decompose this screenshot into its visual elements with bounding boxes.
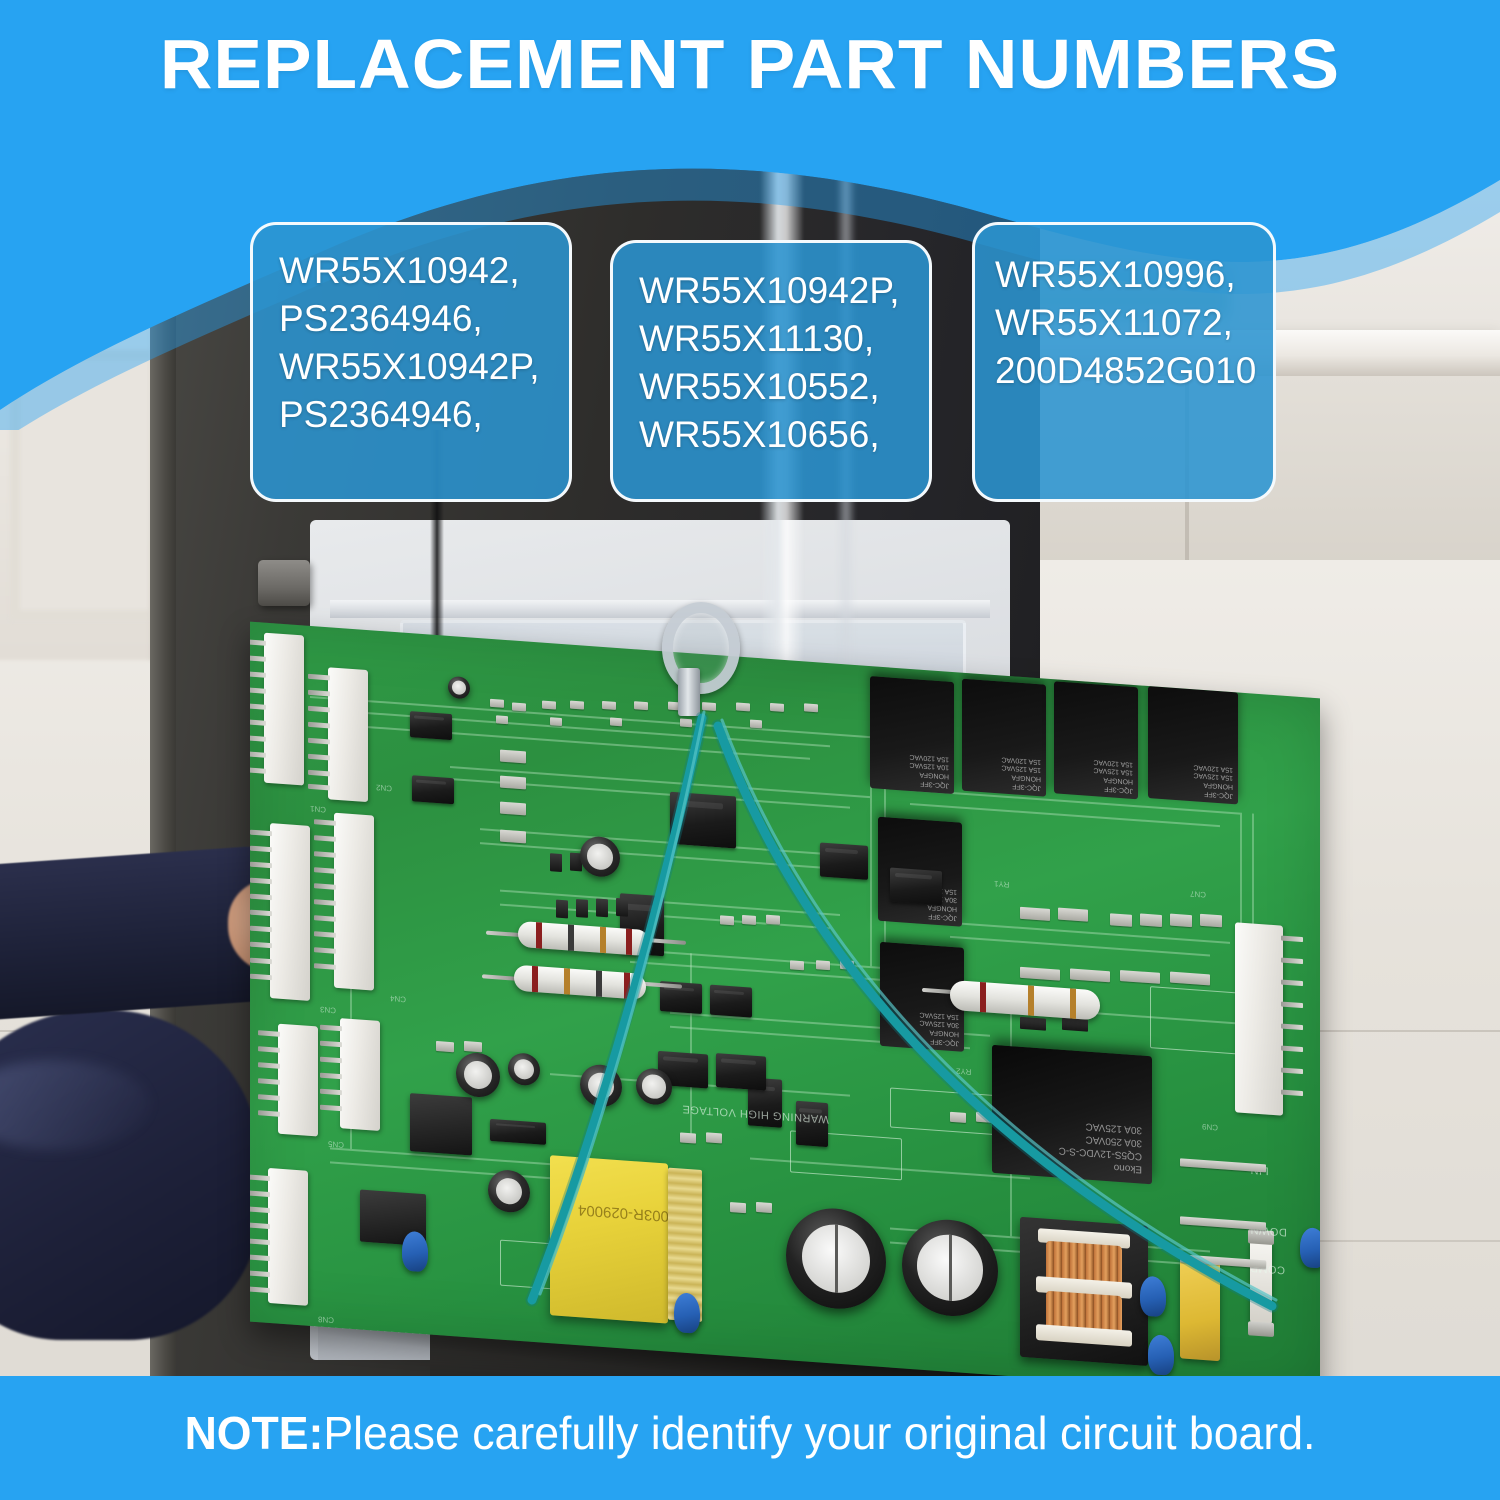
part-number-line: WR55X10552, — [639, 363, 929, 411]
part-number-line: PS2364946, — [279, 391, 569, 439]
circuit-board-photo: JQC-3FF HONGFA 10A 125VAC 15A 120VAC JQC… — [232, 600, 1352, 1390]
technician-body — [0, 1010, 260, 1340]
part-number-line: WR55X11072, — [995, 299, 1273, 347]
part-number-line: WR55X10996, — [995, 251, 1273, 299]
ground-wire — [232, 600, 1352, 1390]
footer-note: NOTE:Please carefully identify your orig… — [23, 1406, 1478, 1460]
part-number-line: WR55X10942, — [279, 247, 569, 295]
note-message: Please carefully identify your original … — [323, 1407, 1315, 1459]
part-number-box-2: WR55X10942P, WR55X11130, WR55X10552, WR5… — [610, 240, 932, 502]
part-number-box-1: WR55X10942, PS2364946, WR55X10942P, PS23… — [250, 222, 572, 502]
page-title: REPLACEMENT PART NUMBERS — [0, 24, 1500, 104]
note-label: NOTE: — [185, 1407, 324, 1459]
infographic-canvas: JQC-3FF HONGFA 10A 125VAC 15A 120VAC JQC… — [0, 0, 1500, 1500]
part-number-line: PS2364946, — [279, 295, 569, 343]
part-number-line: WR55X11130, — [639, 315, 929, 363]
part-number-line: WR55X10942P, — [639, 267, 929, 315]
part-number-line: WR55X10942P, — [279, 343, 569, 391]
part-number-box-3: WR55X10996, WR55X11072, 200D4852G010 — [972, 222, 1276, 502]
part-number-line: WR55X10656, — [639, 411, 929, 459]
part-number-line: 200D4852G010 — [995, 347, 1273, 395]
